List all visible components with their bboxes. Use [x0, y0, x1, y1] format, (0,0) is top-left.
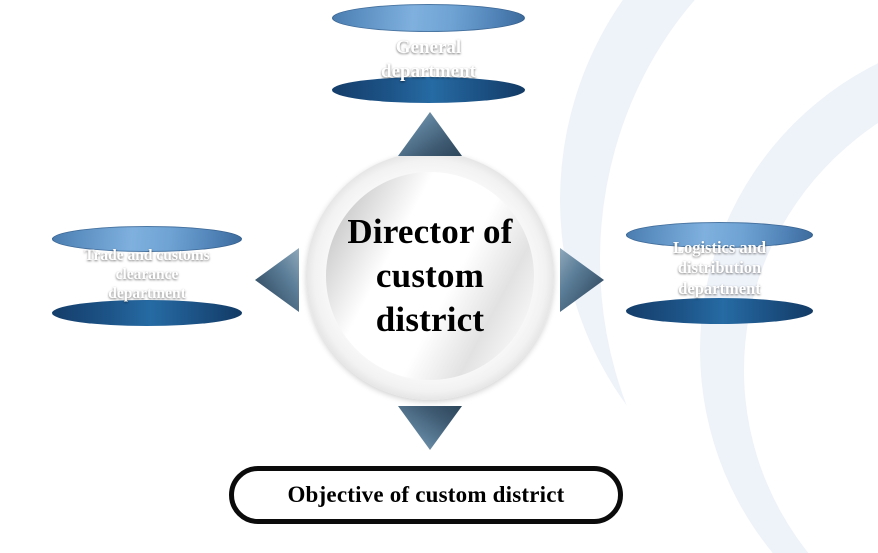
node-trade-line2: clearance — [60, 265, 234, 284]
node-trade-line3: department — [60, 284, 234, 303]
arrow-down-icon — [396, 404, 464, 452]
node-objective-of-custom-district[interactable]: Objective of custom district — [229, 466, 623, 524]
node-logistics-line3: department — [634, 279, 805, 299]
node-general-department[interactable]: General department — [332, 4, 525, 104]
diagram-canvas: General department Trade and customs cle… — [0, 0, 878, 553]
node-general-department-line2: department — [340, 60, 517, 84]
node-logistics-distribution-department[interactable]: Logistics and distribution department — [626, 222, 813, 324]
node-logistics-line2: distribution — [634, 258, 805, 278]
arrow-left-icon — [253, 246, 301, 314]
node-trade-customs-clearance-department[interactable]: Trade and customs clearance department — [52, 226, 242, 326]
node-director-label: Director of custom district — [330, 210, 530, 342]
node-director-line2: custom — [330, 254, 530, 298]
node-director-line1: Director of — [330, 210, 530, 254]
node-director-of-custom-district[interactable]: Director of custom district — [306, 152, 554, 400]
arrow-right-icon — [558, 246, 606, 314]
cylinder-top-face — [332, 4, 525, 32]
node-logistics-line1: Logistics and — [634, 238, 805, 258]
node-general-department-label: General department — [332, 36, 525, 83]
arrow-up-icon — [396, 110, 464, 158]
node-objective-label: Objective of custom district — [287, 482, 564, 508]
node-director-line3: district — [330, 298, 530, 342]
node-trade-line1: Trade and customs — [60, 246, 234, 265]
node-logistics-distribution-department-label: Logistics and distribution department — [626, 238, 813, 299]
node-trade-customs-clearance-department-label: Trade and customs clearance department — [52, 246, 242, 304]
node-general-department-line1: General — [340, 36, 517, 60]
